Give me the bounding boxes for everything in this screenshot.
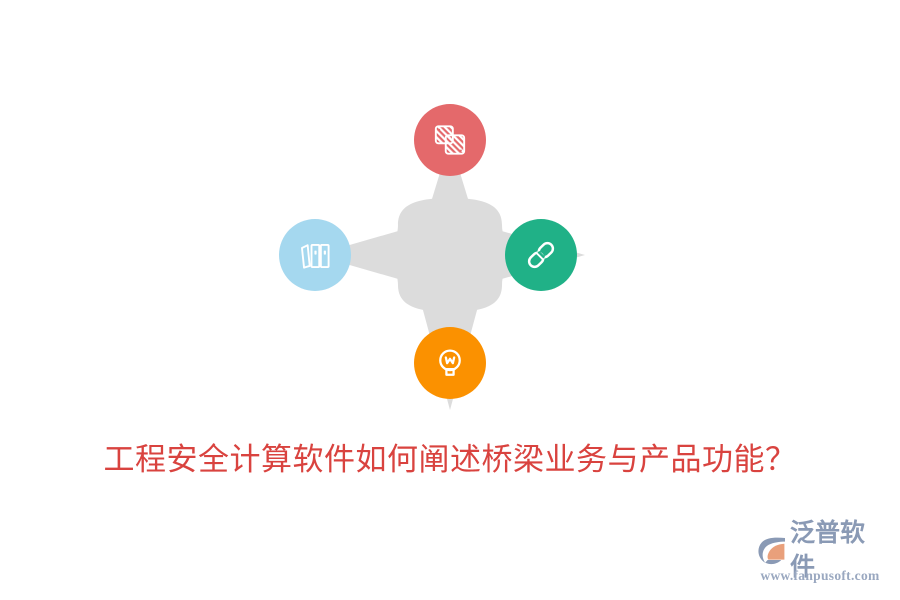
chain-link-icon	[524, 238, 558, 272]
pin-node-left[interactable]	[279, 219, 351, 291]
brand-watermark: 泛普软件 www.fanpusoft.com	[754, 530, 886, 592]
fanpu-logo-icon	[754, 533, 788, 567]
page-root: 工程安全计算软件如何阐述桥梁业务与产品功能？ 泛普软件 www.fanpusof…	[0, 0, 900, 600]
pin-node-right[interactable]	[505, 219, 577, 291]
lightbulb-idea-icon	[433, 346, 467, 380]
pin-node-top[interactable]	[414, 104, 486, 176]
pin-cluster-diagram	[240, 80, 660, 430]
books-archive-icon	[298, 238, 332, 272]
brand-url: www.fanpusoft.com	[754, 568, 886, 584]
brand-row: 泛普软件	[754, 530, 886, 570]
layers-tiles-icon	[433, 123, 467, 157]
page-title: 工程安全计算软件如何阐述桥梁业务与产品功能？	[0, 440, 900, 480]
pin-node-bottom[interactable]	[414, 327, 486, 399]
